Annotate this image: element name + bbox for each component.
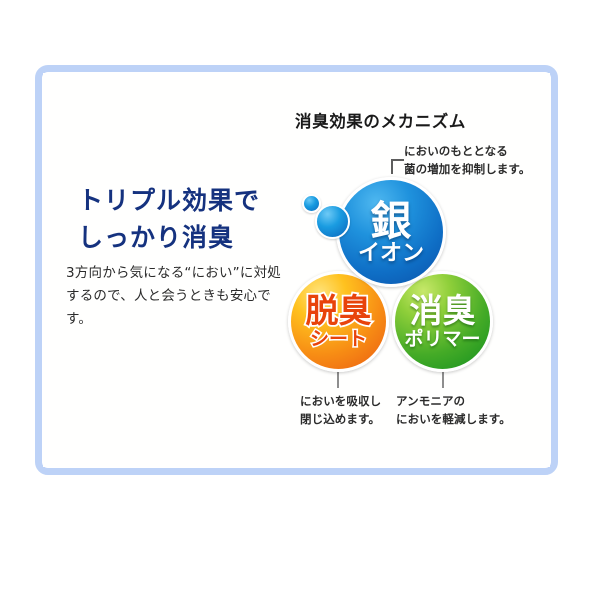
- callout-deodorizing-sheet: においを吸収し 閉じ込めます。: [300, 393, 381, 429]
- circle-deodorizing-sheet: 脱臭 シート: [288, 271, 389, 372]
- circle-sheet-line2: シート: [310, 329, 367, 350]
- circle-silver-ion-line2: イオン: [358, 242, 424, 265]
- circle-silver-ion: 銀 イオン: [336, 177, 446, 287]
- circle-polymer-line2: ポリマー: [404, 329, 480, 350]
- circle-polymer-line1: 消臭: [410, 294, 476, 327]
- leader-line-sheet: [337, 370, 339, 388]
- bracket-corner-icon: [391, 159, 404, 174]
- circle-deodorizing-polymer: 消臭 ポリマー: [392, 271, 493, 372]
- diagram-title: 消臭効果のメカニズム: [295, 108, 466, 132]
- left-text-block: トリプル効果で しっかり消臭: [78, 182, 288, 256]
- bubble-medium-icon: [315, 204, 350, 239]
- callout-deodorizing-polymer: アンモニアの においを軽減します。: [396, 393, 511, 429]
- circle-sheet-line1: 脱臭: [306, 294, 372, 327]
- callout-silver-ion: においのもととなる 菌の増加を抑制します。: [404, 143, 530, 179]
- circle-silver-ion-line1: 銀: [371, 201, 412, 241]
- leader-line-polymer: [442, 370, 444, 388]
- body-copy: 3方向から気になる“におい”に対処するので、人と会うときも安心です。: [66, 262, 281, 332]
- infographic-canvas: トリプル効果で しっかり消臭 3方向から気になる“におい”に対処するので、人と会…: [0, 0, 600, 600]
- headline: トリプル効果で しっかり消臭: [78, 182, 288, 256]
